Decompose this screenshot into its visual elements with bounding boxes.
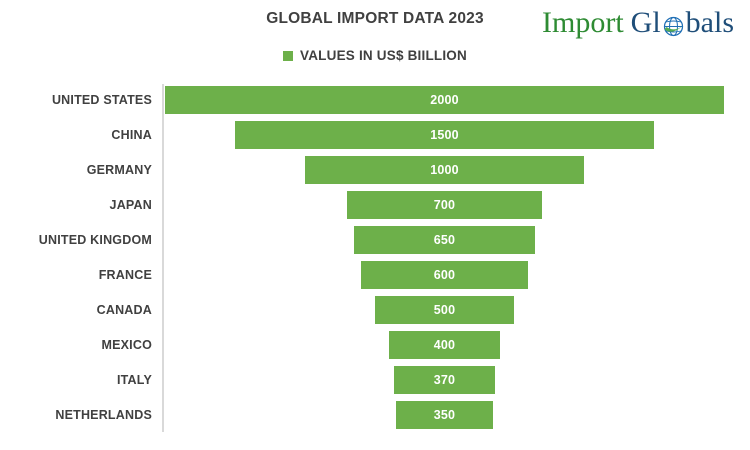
funnel-row: MEXICO400 [0,330,750,365]
category-label-japan: JAPAN [0,190,152,220]
import-globals-logo: Import Gl bals [542,8,734,38]
funnel-chart-figure: GLOBAL IMPORT DATA 2023 VALUES IN US$ BI… [0,0,750,450]
category-label-mexico: MEXICO [0,330,152,360]
logo-text-import: Import [542,8,624,38]
legend-label: VALUES IN US$ BIILLION [300,48,467,63]
category-label-germany: GERMANY [0,155,152,185]
bar-value-label: 1500 [430,128,459,142]
bar-united-states[interactable]: 2000 [164,85,725,115]
category-label-canada: CANADA [0,295,152,325]
logo-text-gl: Gl [631,8,661,38]
bar-value-label: 350 [434,408,455,422]
bar-united-kingdom[interactable]: 650 [353,225,535,255]
bar-china[interactable]: 1500 [234,120,655,150]
bar-value-label: 400 [434,338,455,352]
category-label-china: CHINA [0,120,152,150]
funnel-row: CHINA1500 [0,120,750,155]
bar-value-label: 600 [434,268,455,282]
bar-mexico[interactable]: 400 [388,330,500,360]
category-label-united-kingdom: UNITED KINGDOM [0,225,152,255]
funnel-row: UNITED KINGDOM650 [0,225,750,260]
bar-canada[interactable]: 500 [374,295,514,325]
bar-france[interactable]: 600 [360,260,528,290]
chart-legend: VALUES IN US$ BIILLION [0,48,750,63]
funnel-row: JAPAN700 [0,190,750,225]
funnel-row: ITALY370 [0,365,750,400]
funnel-row: CANADA500 [0,295,750,330]
logo-text-bals: bals [686,8,734,38]
bar-value-label: 1000 [430,163,459,177]
globe-icon [661,14,686,39]
bar-value-label: 500 [434,303,455,317]
bar-value-label: 700 [434,198,455,212]
bar-value-label: 370 [434,373,455,387]
category-label-italy: ITALY [0,365,152,395]
bar-value-label: 2000 [430,93,459,107]
funnel-row: UNITED STATES2000 [0,85,750,120]
bar-japan[interactable]: 700 [346,190,542,220]
bar-italy[interactable]: 370 [393,365,497,395]
funnel-row: GERMANY1000 [0,155,750,190]
category-label-united-states: UNITED STATES [0,85,152,115]
bar-netherlands[interactable]: 350 [395,400,493,430]
bar-germany[interactable]: 1000 [304,155,585,185]
category-label-france: FRANCE [0,260,152,290]
green-square-icon [283,51,293,61]
funnel-row: NETHERLANDS350 [0,400,750,435]
category-label-netherlands: NETHERLANDS [0,400,152,430]
funnel-row: FRANCE600 [0,260,750,295]
bar-value-label: 650 [434,233,455,247]
funnel-bars-container: UNITED STATES2000CHINA1500GERMANY1000JAP… [0,85,750,435]
